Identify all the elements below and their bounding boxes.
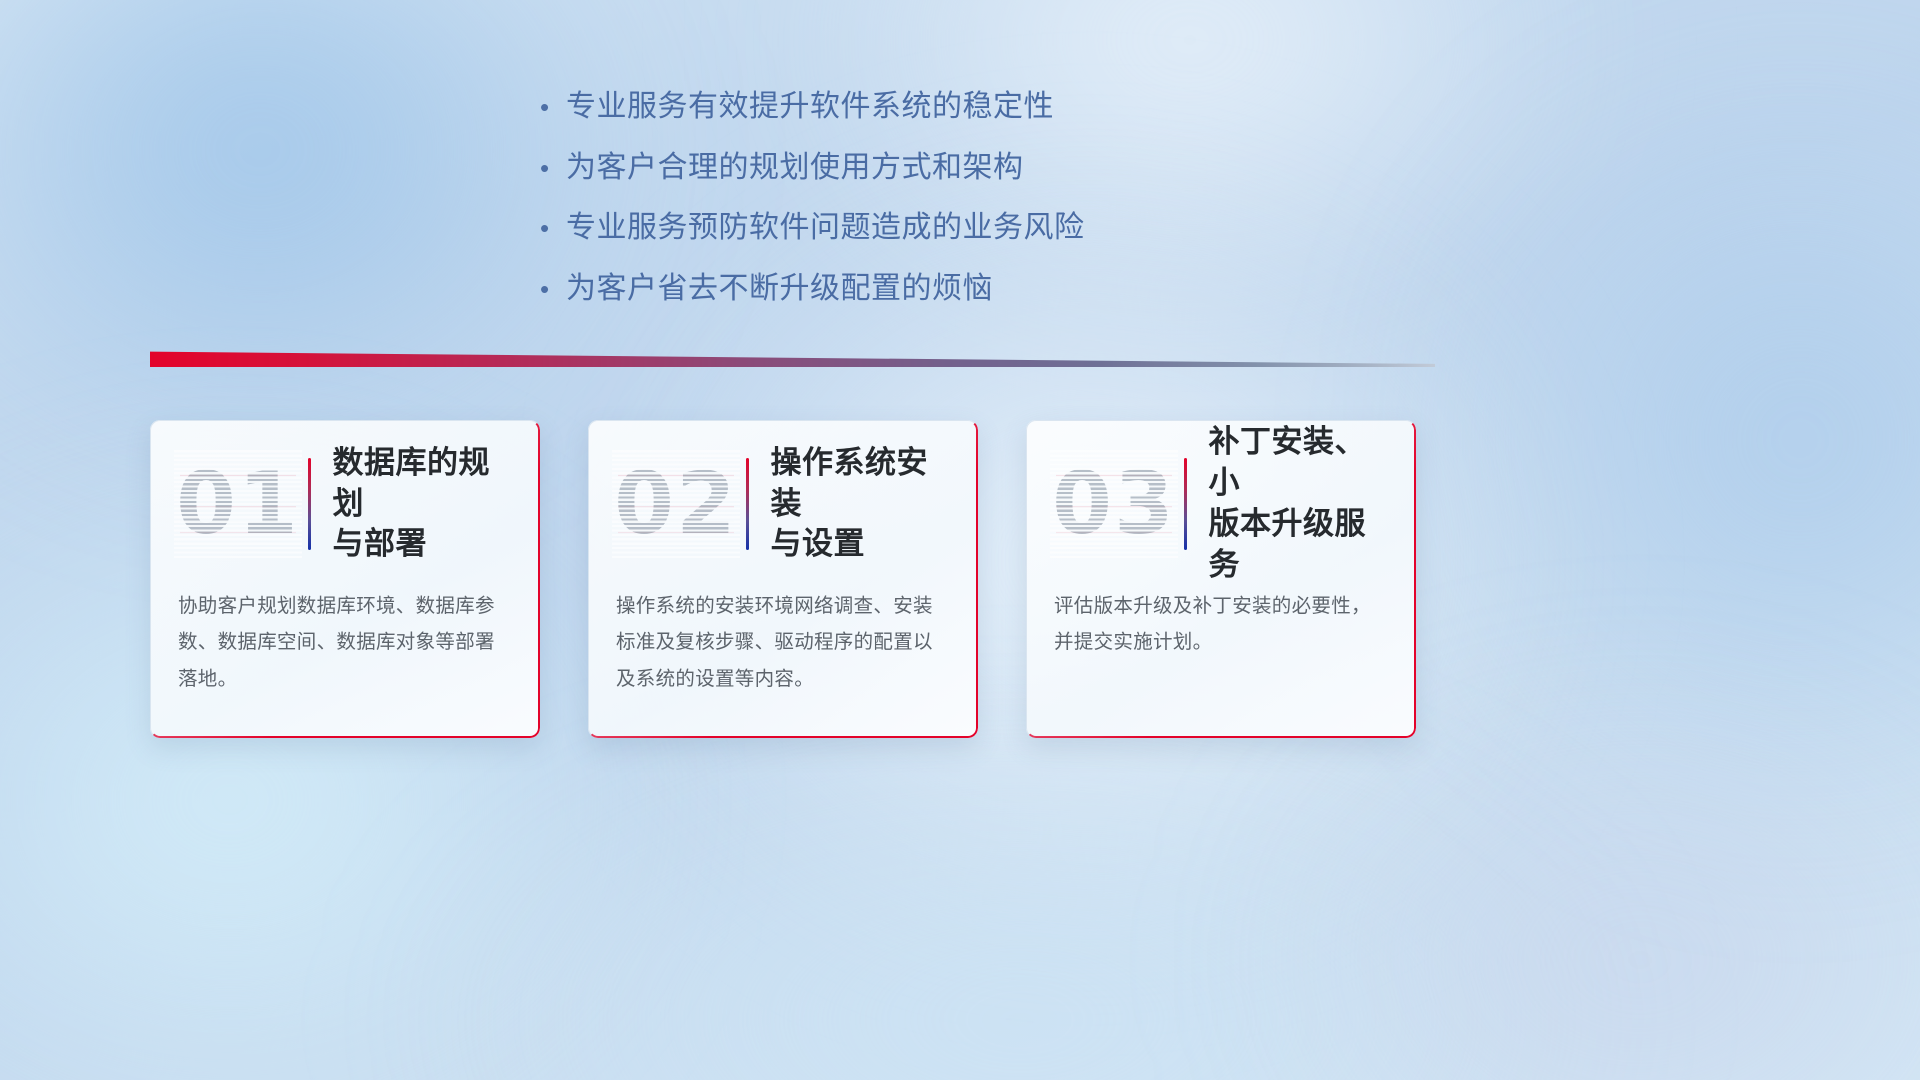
card-divider-rule: [1184, 458, 1187, 550]
bullet-dot-icon: •: [540, 94, 566, 120]
bullet-text: 专业服务有效提升软件系统的稳定性: [566, 86, 1054, 129]
service-card-01[interactable]: 01 数据库的规划 与部署 协助客户规划数据库环境、数据库参数、数据库空间、数据…: [150, 420, 540, 738]
list-item: • 为客户合理的规划使用方式和架构: [540, 147, 1400, 190]
list-item: • 专业服务有效提升软件系统的稳定性: [540, 86, 1400, 129]
card-divider-rule: [746, 458, 749, 550]
list-item: • 专业服务预防软件问题造成的业务风险: [540, 207, 1400, 250]
card-header: 02 操作系统安装 与设置: [588, 448, 958, 560]
bullet-dot-icon: •: [540, 276, 566, 302]
card-header: 03 补丁安装、小 版本升级服务: [1026, 448, 1396, 560]
card-title: 数据库的规划 与部署: [333, 443, 521, 566]
bullet-text: 为客户合理的规划使用方式和架构: [566, 147, 1024, 190]
benefits-bullet-list: • 专业服务有效提升软件系统的稳定性 • 为客户合理的规划使用方式和架构 • 专…: [540, 86, 1400, 328]
card-description: 协助客户规划数据库环境、数据库参数、数据库空间、数据库对象等部署落地。: [178, 588, 514, 697]
service-card-03[interactable]: 03 补丁安装、小 版本升级服务 评估版本升级及补丁安装的必要性，并提交实施计划…: [1026, 420, 1416, 738]
card-description: 评估版本升级及补丁安装的必要性，并提交实施计划。: [1054, 588, 1390, 661]
card-title: 补丁安装、小 版本升级服务: [1209, 422, 1397, 586]
card-number: 03: [1050, 448, 1178, 560]
service-card-02[interactable]: 02 操作系统安装 与设置 操作系统的安装环境网络调查、安装标准及复核步骤、驱动…: [588, 420, 978, 738]
divider-wedge: [150, 345, 1435, 367]
card-title: 操作系统安装 与设置: [771, 443, 959, 566]
bullet-dot-icon: •: [540, 215, 566, 241]
card-number: 01: [174, 448, 302, 560]
bullet-text: 为客户省去不断升级配置的烦恼: [566, 268, 993, 311]
bullet-text: 专业服务预防软件问题造成的业务风险: [566, 207, 1085, 250]
card-divider-rule: [308, 458, 311, 550]
service-card-group: 01 数据库的规划 与部署 协助客户规划数据库环境、数据库参数、数据库空间、数据…: [150, 420, 1416, 738]
card-header: 01 数据库的规划 与部署: [150, 448, 520, 560]
slide-canvas: • 专业服务有效提升软件系统的稳定性 • 为客户合理的规划使用方式和架构 • 专…: [0, 0, 1920, 1080]
section-divider: [150, 345, 1435, 367]
list-item: • 为客户省去不断升级配置的烦恼: [540, 268, 1400, 311]
card-description: 操作系统的安装环境网络调查、安装标准及复核步骤、驱动程序的配置以及系统的设置等内…: [616, 588, 952, 697]
card-number: 02: [612, 448, 740, 560]
bullet-dot-icon: •: [540, 155, 566, 181]
